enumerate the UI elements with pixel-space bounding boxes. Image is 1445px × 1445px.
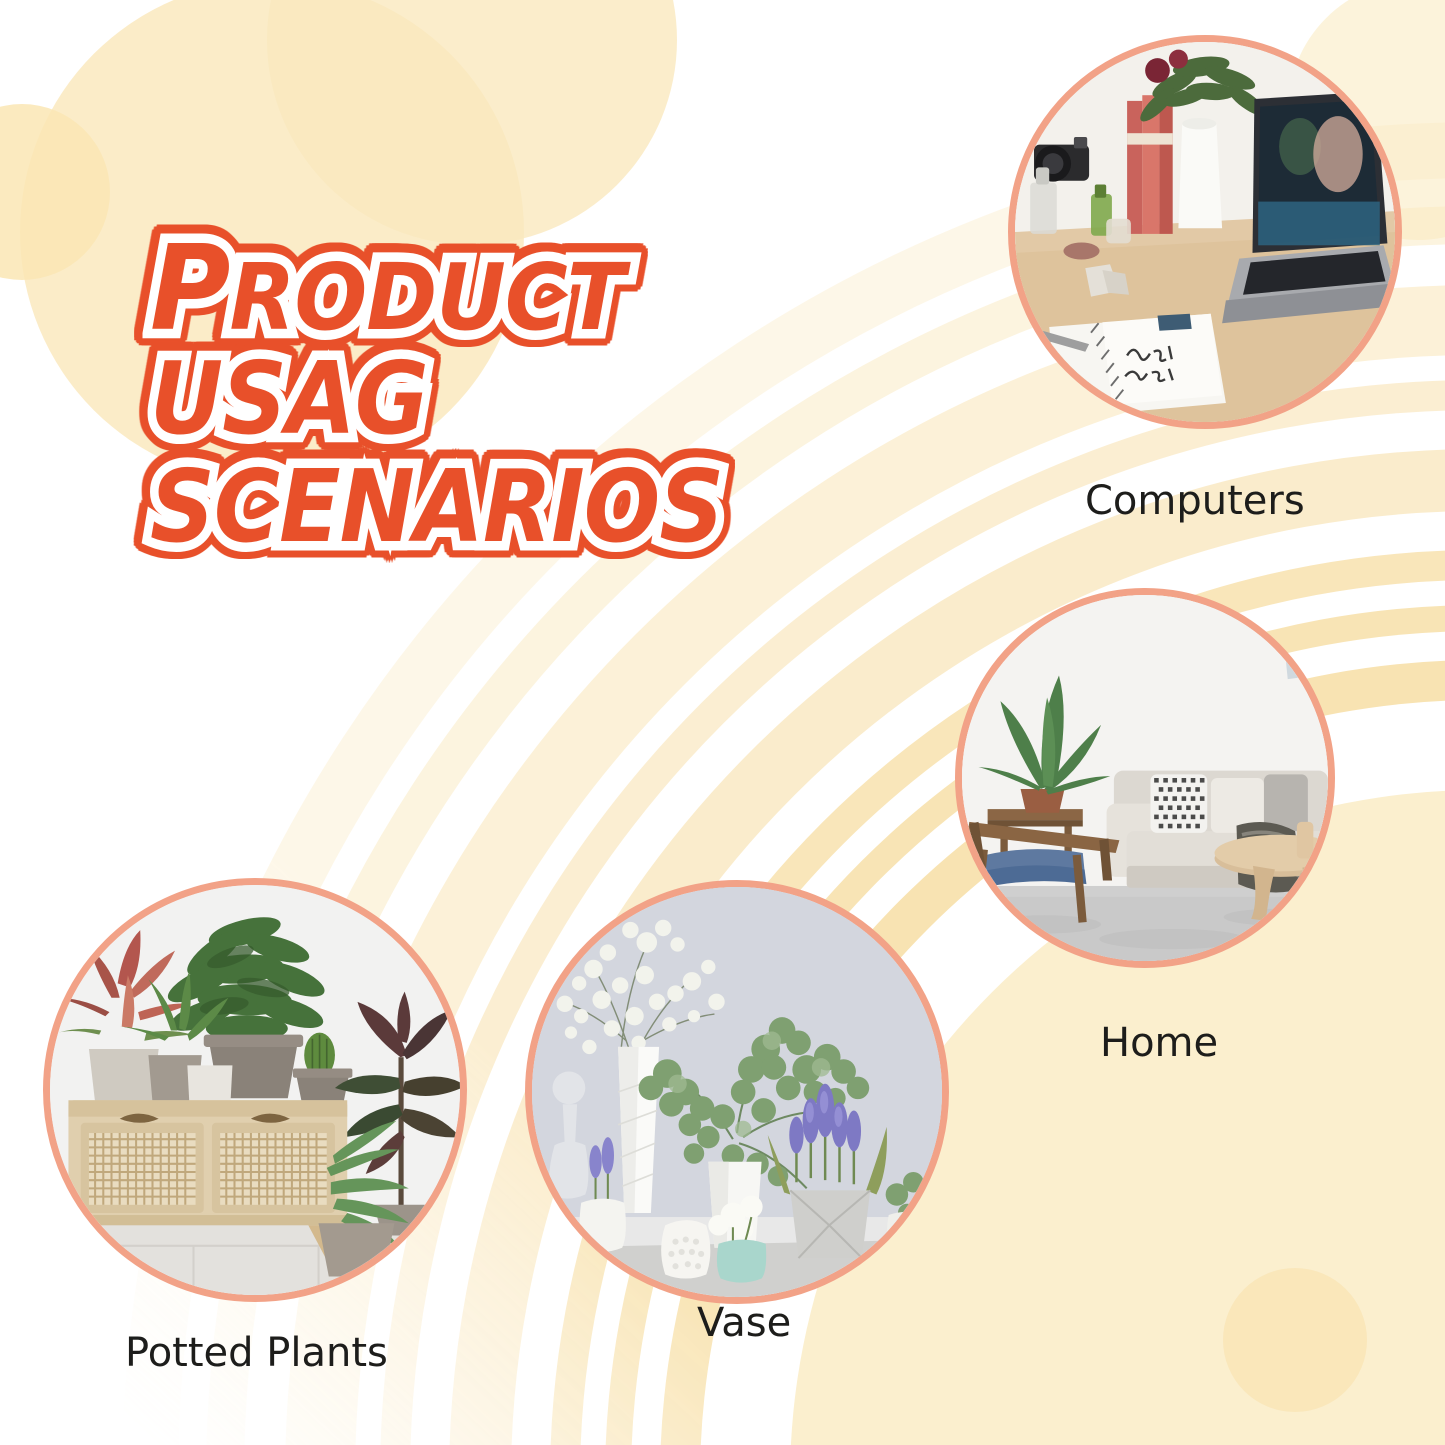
title-line-3: SCENARIOS bbox=[150, 459, 834, 555]
photo-circle-home[interactable] bbox=[955, 588, 1335, 968]
label-vase: Vase bbox=[697, 1300, 791, 1346]
scene-computers bbox=[1015, 42, 1395, 422]
photo-circle-vase[interactable] bbox=[525, 880, 949, 1304]
title-line-1: PRODUCT bbox=[150, 232, 857, 345]
photo-circle-potted-plants[interactable] bbox=[43, 878, 467, 1302]
label-potted-plants: Potted Plants bbox=[125, 1330, 388, 1376]
page-title: PRODUCT USAG SCENARIOS bbox=[150, 232, 910, 555]
decor-disc-bottom-right-small bbox=[1223, 1268, 1367, 1412]
scene-home bbox=[962, 595, 1328, 961]
photo-circle-computers[interactable] bbox=[1008, 35, 1402, 429]
scene-vase bbox=[532, 887, 942, 1297]
scene-potted-plants bbox=[50, 885, 460, 1295]
title-line-1-rest: RODUCT bbox=[230, 244, 625, 351]
label-home: Home bbox=[1100, 1020, 1218, 1066]
label-computers: Computers bbox=[1085, 478, 1305, 524]
title-line-2: USAG bbox=[150, 351, 834, 447]
title-dropcap: P bbox=[150, 219, 230, 357]
